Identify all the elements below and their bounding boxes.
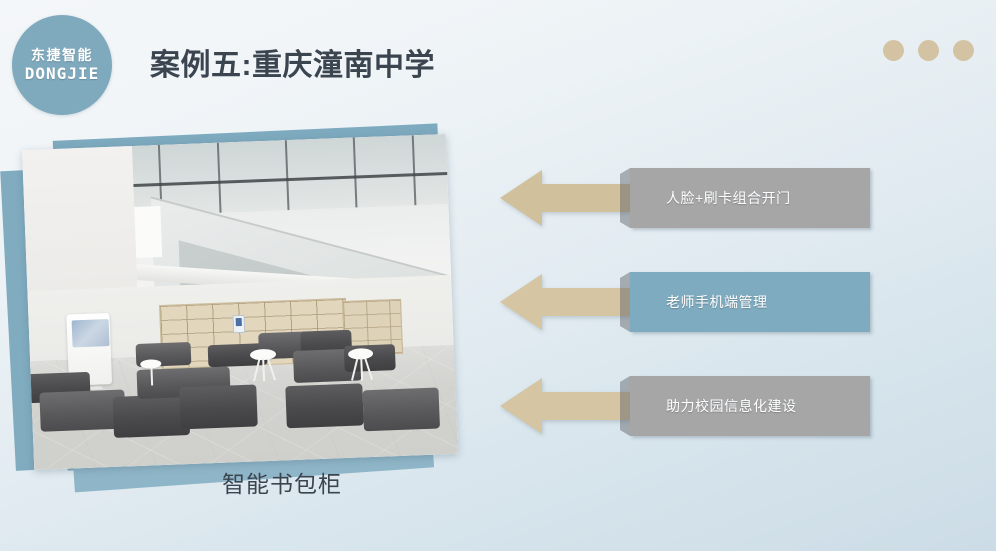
callout-notch [620,168,630,228]
dot-icon [953,40,974,61]
photo-side-table [250,349,277,382]
callout-item[interactable]: 助力校园信息化建设 [500,376,870,436]
photo-kiosk-screen [72,319,109,347]
photo-side-table [140,359,162,385]
photo-caption: 智能书包柜 [222,465,342,499]
photo-wall-sign [232,315,245,333]
arrow-left-icon [500,272,630,332]
logo-name-chinese: 东捷智能 [31,48,93,63]
photo-bench [286,384,364,428]
callout-box[interactable]: 老师手机端管理 [630,272,870,332]
dot-icon [918,40,939,61]
callout-label: 人脸+刷卡组合开门 [630,188,791,208]
photo-bench [180,385,258,429]
photo-block [0,110,500,510]
photo-side-table [348,348,375,381]
photo-bench [112,394,190,438]
site-photo [22,134,458,470]
photo-content [22,134,458,470]
callout-label: 老师手机端管理 [630,292,768,312]
callout-label: 助力校园信息化建设 [630,396,797,416]
callout-notch [620,376,630,436]
arrow-left-icon [500,376,630,436]
dot-icon [883,40,904,61]
arrow-left-icon [500,168,630,228]
callout-notch [620,272,630,332]
page-title: 案例五:重庆潼南中学 [150,40,435,84]
logo-name-english: DONGJIE [25,66,99,82]
company-logo: 东捷智能 DONGJIE [12,15,112,115]
callout-item[interactable]: 老师手机端管理 [500,272,870,332]
callout-box[interactable]: 人脸+刷卡组合开门 [630,168,870,228]
decorative-dots [883,40,974,61]
photo-bench [362,387,440,431]
callout-item[interactable]: 人脸+刷卡组合开门 [500,168,870,228]
callout-box[interactable]: 助力校园信息化建设 [630,376,870,436]
presentation-slide: 东捷智能 DONGJIE 案例五:重庆潼南中学 [0,0,996,551]
